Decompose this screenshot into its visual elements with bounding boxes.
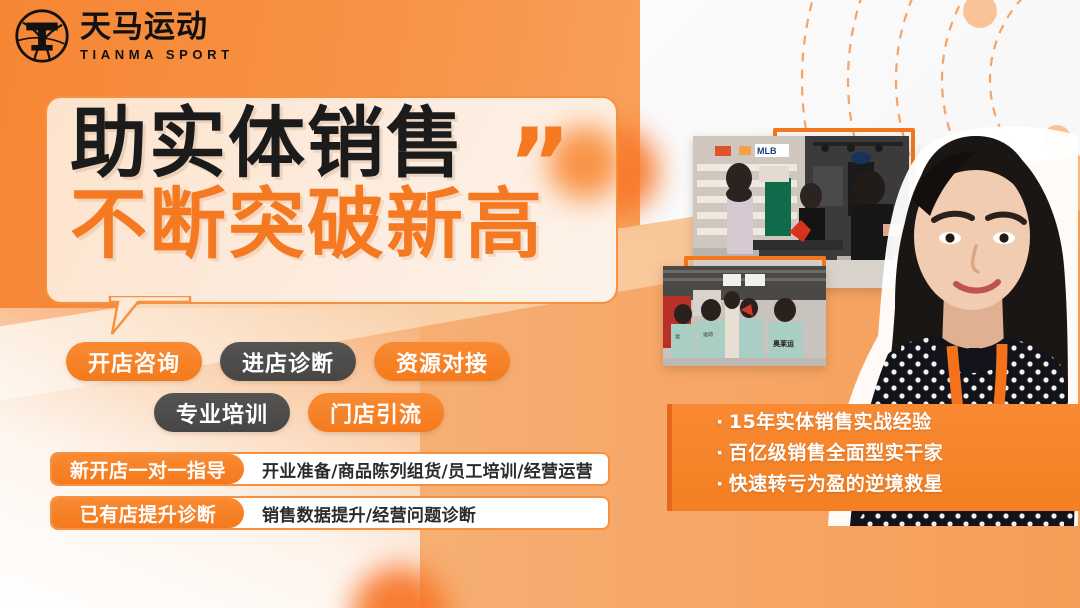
quote-mark-icon: ”	[508, 116, 571, 212]
credential-item: 15年实体销售实战经验	[716, 413, 1080, 432]
credential-item: 百亿级销售全面型实干家	[716, 444, 1080, 463]
svg-text:奥莱运: 奥莱运	[773, 339, 795, 348]
svg-text:运动: 运动	[703, 331, 713, 338]
pill-store-traffic[interactable]: 门店引流	[308, 393, 444, 432]
service-pill-group: 开店咨询 进店诊断 资源对接 专业培训 门店引流	[66, 342, 626, 444]
svg-text:运: 运	[675, 333, 680, 340]
service-bar-desc: 开业准备/商品陈列组货/员工培训/经营运营	[244, 454, 608, 484]
brand-name-en: TIANMA SPORT	[80, 48, 234, 61]
pill-store-visit-diagnosis[interactable]: 进店诊断	[220, 342, 356, 381]
staff-training-photo-content: 奥莱运 运 运动	[663, 266, 826, 366]
promo-banner: 天马运动 TIANMA SPORT 助实体销售 不断突破新高 ” 开店咨询 进店…	[0, 0, 1080, 608]
service-detail-list: 新开店一对一指导 开业准备/商品陈列组货/员工培训/经营运营 已有店提升诊断 销…	[50, 452, 610, 540]
service-pill-row-1: 开店咨询 进店诊断 资源对接	[66, 342, 626, 381]
pill-open-store-consulting[interactable]: 开店咨询	[66, 342, 202, 381]
service-bar-desc: 销售数据提升/经营问题诊断	[244, 498, 608, 528]
service-bar-existing-store[interactable]: 已有店提升诊断 销售数据提升/经营问题诊断	[50, 496, 610, 530]
service-pill-row-2: 专业培训 门店引流	[66, 393, 626, 432]
service-bar-new-store[interactable]: 新开店一对一指导 开业准备/商品陈列组货/员工培训/经营运营	[50, 452, 610, 486]
brand-name-cn: 天马运动	[80, 12, 234, 43]
staff-training-photo: 奥莱运 运 运动	[663, 266, 826, 366]
credential-item: 快速转亏为盈的逆境救星	[716, 475, 1080, 494]
pill-professional-training[interactable]: 专业培训	[154, 393, 290, 432]
credentials-band: 15年实体销售实战经验 百亿级销售全面型实干家 快速转亏为盈的逆境救星	[667, 404, 1080, 511]
brand-logo: 天马运动 TIANMA SPORT	[14, 8, 234, 64]
pill-resource-matching[interactable]: 资源对接	[374, 342, 510, 381]
basketball-t-emblem-icon	[14, 8, 70, 64]
svg-text:MLB: MLB	[757, 146, 777, 156]
speech-bubble-tail	[108, 296, 192, 336]
service-bar-tag: 新开店一对一指导	[52, 454, 244, 484]
service-bar-tag: 已有店提升诊断	[52, 498, 244, 528]
